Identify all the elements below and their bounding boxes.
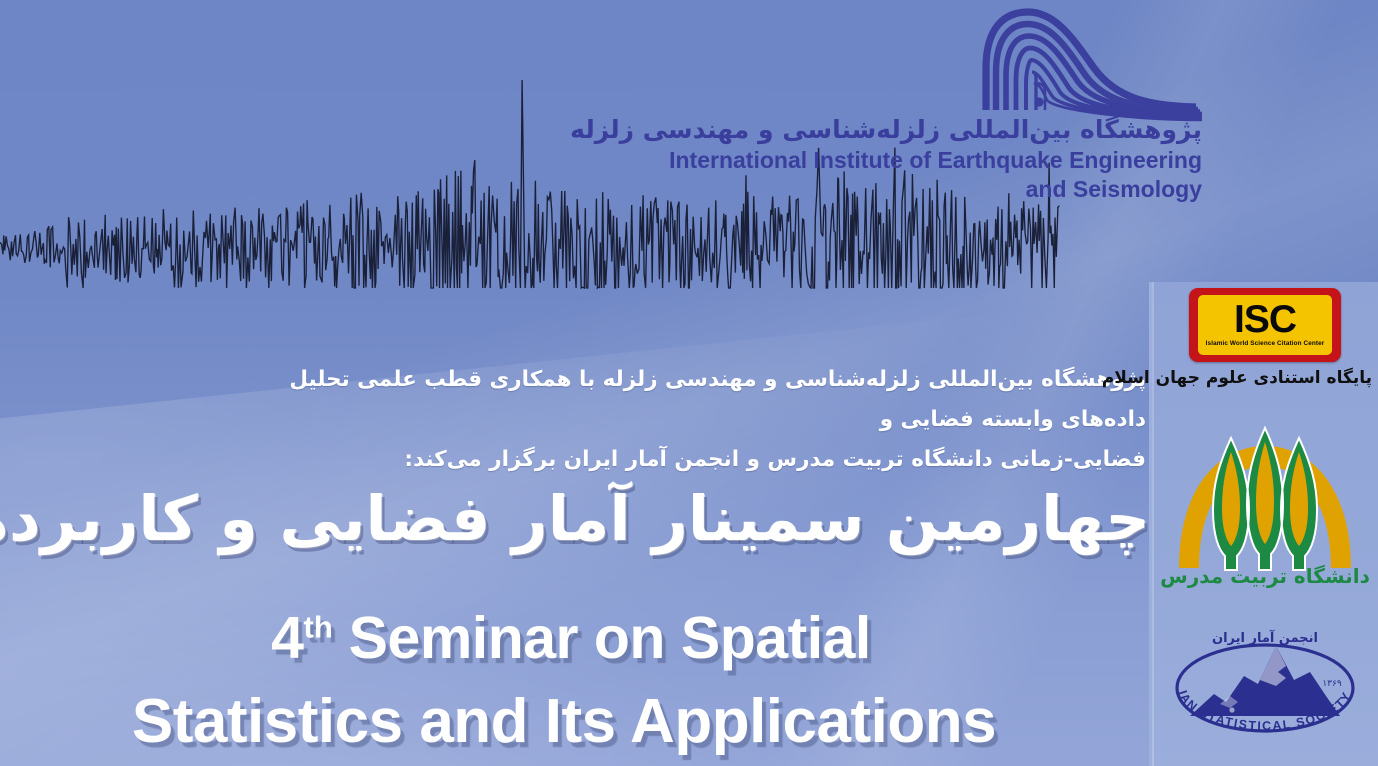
- tmu-logo: [1167, 418, 1363, 578]
- sponsor-tmu: دانشگاه تربیت مدرس: [1152, 414, 1378, 624]
- iss-year-fa: ۱۳۶۹: [1322, 679, 1342, 689]
- institute-name-en-line1: International Institute of Earthquake En…: [502, 147, 1202, 174]
- sponsor-logo-rail: ISC Islamic World Science Citation Cente…: [1149, 282, 1378, 766]
- event-ordinal-number: 4: [271, 605, 303, 671]
- iss-logo: انجمن آمار ایران IRANIAN STATISTICAL SOC…: [1160, 624, 1370, 756]
- organizers-line-1: پژوهشگاه بین‌المللی زلزله‌شناسی و مهندسی…: [226, 360, 1146, 440]
- organizers-line-2: فضایی-زمانی دانشگاه تربیت مدرس و انجمن آ…: [226, 440, 1146, 480]
- event-title-en-line2: Statistics and Its Applications: [0, 686, 1128, 757]
- event-ordinal-suffix: th: [304, 609, 333, 644]
- sponsor-iss: انجمن آمار ایران IRANIAN STATISTICAL SOC…: [1152, 624, 1378, 760]
- tmu-caption-fa: دانشگاه تربیت مدرس: [1152, 564, 1378, 588]
- sponsor-isc: ISC Islamic World Science Citation Cente…: [1152, 282, 1378, 414]
- isc-acronym: ISC: [1234, 302, 1296, 338]
- iss-caption-fa: انجمن آمار ایران: [1212, 629, 1318, 646]
- event-title-fa: چهارمین سمینار آمار فضایی و کاربردهای آن: [0, 486, 1150, 551]
- poster-canvas: پژوهشگاه بین‌المللی زلزله‌شناسی و مهندسی…: [0, 0, 1378, 766]
- isc-logo: ISC Islamic World Science Citation Cente…: [1189, 288, 1341, 362]
- event-title-en-rest: Seminar on Spatial: [349, 605, 871, 671]
- isc-badge-inner: ISC Islamic World Science Citation Cente…: [1198, 295, 1332, 355]
- institute-name-en-line2: and Seismology: [502, 176, 1202, 203]
- tmu-cypress-trees: [1213, 428, 1317, 570]
- institute-identity: پژوهشگاه بین‌المللی زلزله‌شناسی و مهندسی…: [502, 6, 1202, 204]
- isc-caption-fa: پایگاه استنادی علوم جهان اسلام: [1152, 368, 1372, 388]
- institute-name-fa: پژوهشگاه بین‌المللی زلزله‌شناسی و مهندسی…: [502, 114, 1202, 145]
- organizers-statement: پژوهشگاه بین‌المللی زلزله‌شناسی و مهندسی…: [226, 360, 1146, 479]
- event-title-en-line1: 4th Seminar on Spatial: [0, 604, 1142, 672]
- iiees-wave-logo: [970, 6, 1202, 110]
- isc-subtitle: Islamic World Science Citation Center: [1206, 340, 1325, 347]
